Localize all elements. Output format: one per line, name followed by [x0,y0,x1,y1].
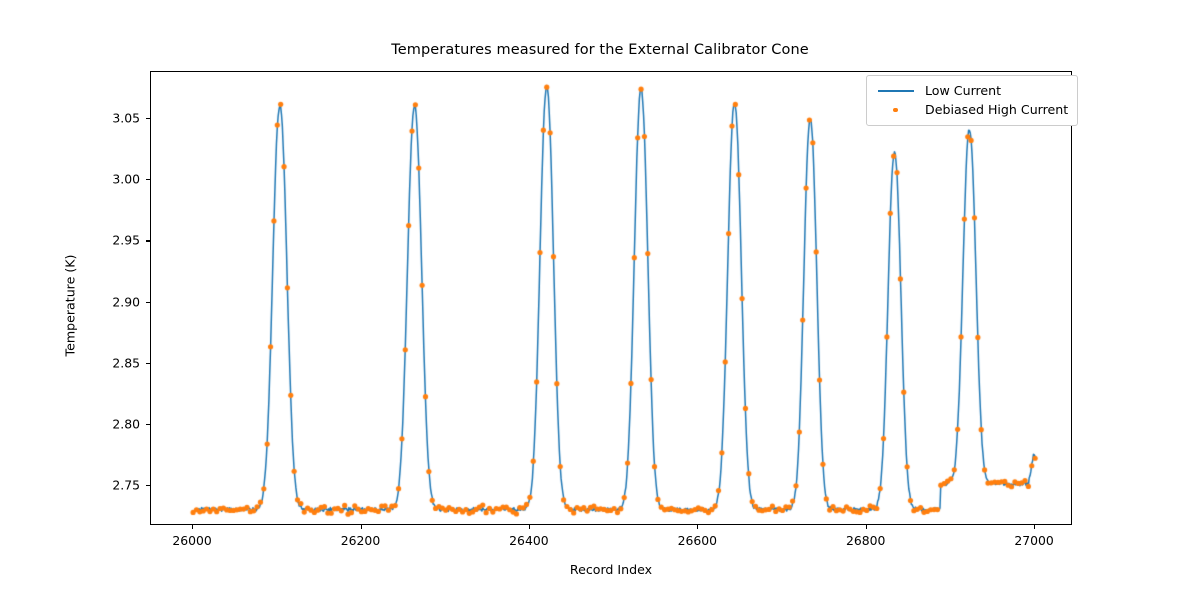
plot-area [150,71,1072,525]
legend-line-swatch [876,84,916,98]
legend-label-debiased-high-current: Debiased High Current [925,102,1068,117]
legend-item-low-current[interactable]: Low Current [876,81,1068,100]
x-tick-label: 26800 [821,533,911,548]
figure: Temperatures measured for the External C… [0,0,1200,600]
y-tick-label: 2.80 [80,417,140,432]
y-tick-label: 2.90 [80,294,140,309]
y-tick-label: 3.05 [80,111,140,126]
x-tick-label: 26200 [316,533,406,548]
y-tick-label: 2.85 [80,355,140,370]
legend-dot-swatch [876,103,916,117]
y-tick-label: 3.00 [80,172,140,187]
x-tick-label: 26400 [484,533,574,548]
y-axis-label: Temperature (K) [63,176,78,436]
y-tick-label: 2.95 [80,233,140,248]
y-tick-label: 2.75 [80,478,140,493]
x-tick-label: 26000 [147,533,237,548]
legend[interactable]: Low Current Debiased High Current [866,75,1078,126]
legend-label-low-current: Low Current [925,83,1001,98]
chart-canvas [151,72,1073,526]
x-axis-label: Record Index [150,562,1072,577]
legend-item-debiased-high-current[interactable]: Debiased High Current [876,100,1068,119]
chart-title: Temperatures measured for the External C… [0,42,1200,58]
x-tick-label: 27000 [989,533,1079,548]
x-tick-label: 26600 [652,533,742,548]
